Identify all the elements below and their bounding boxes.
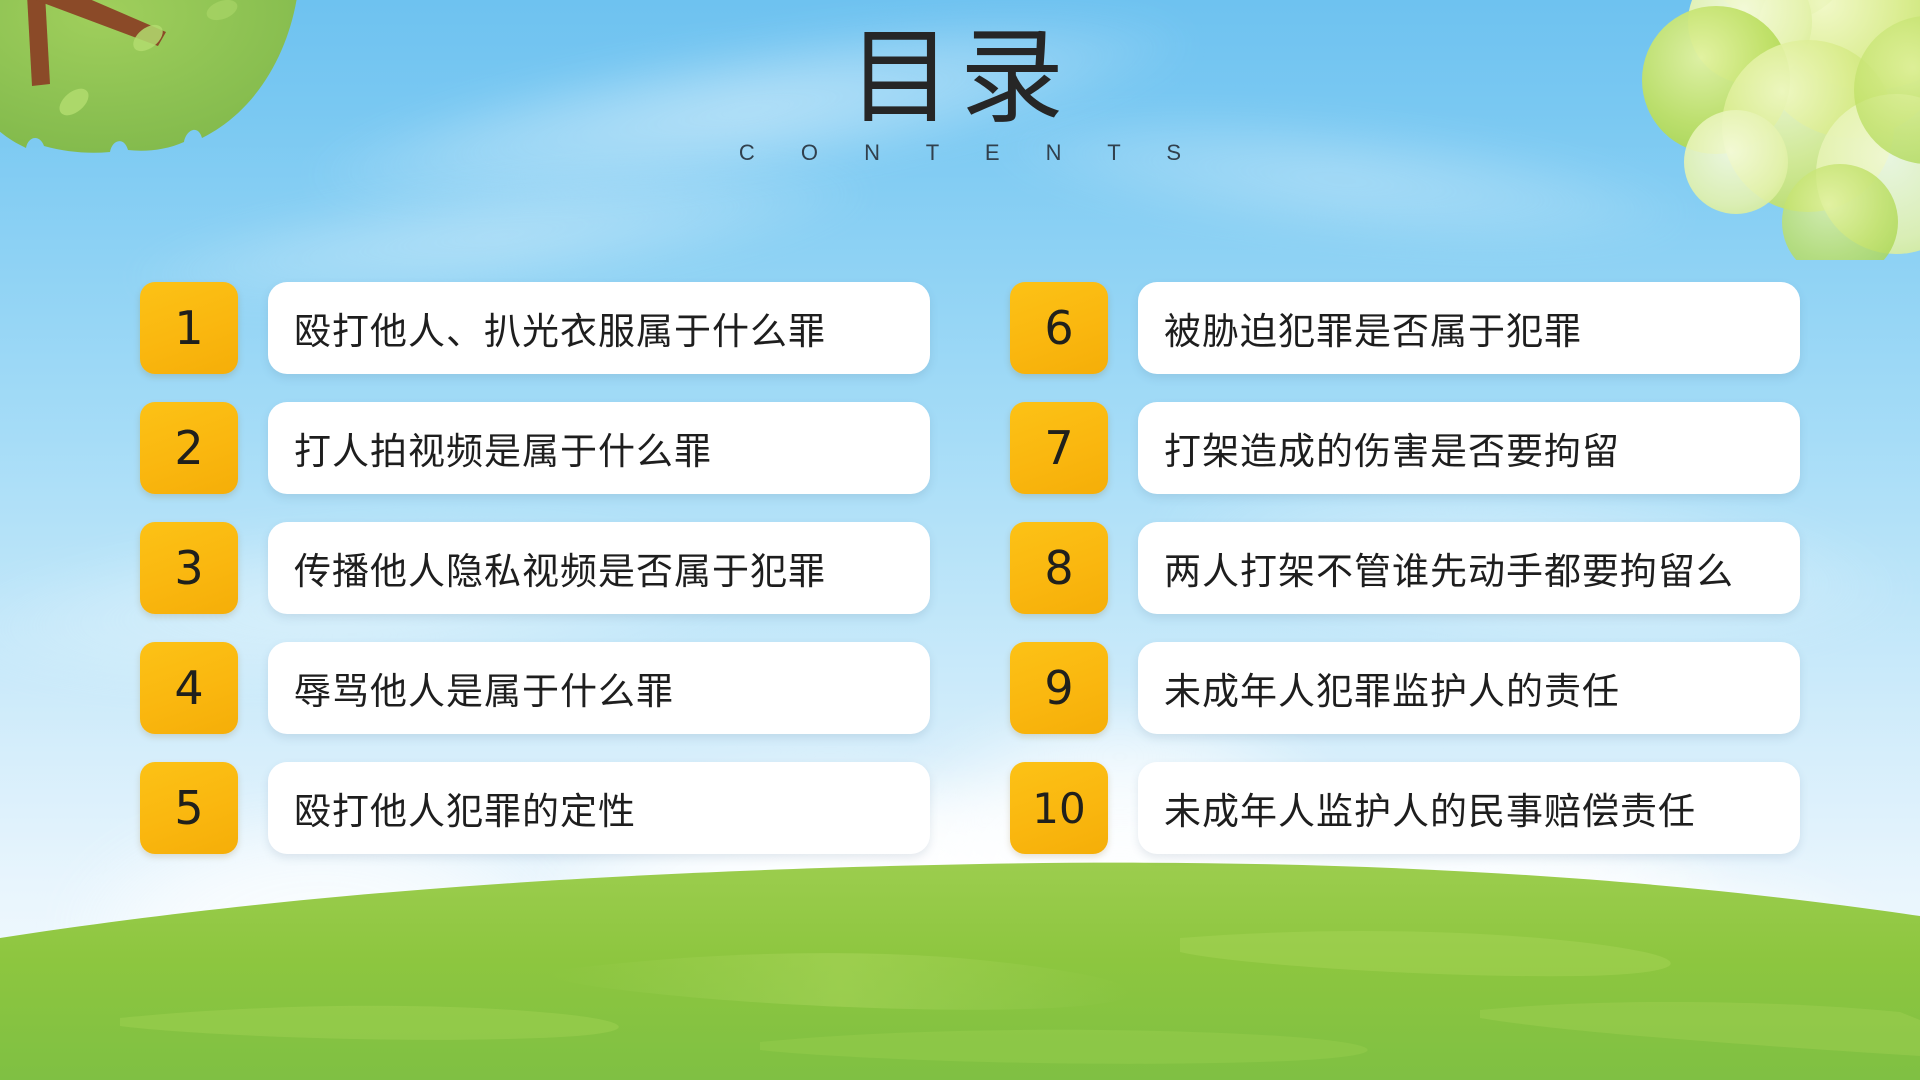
item-label: 未成年人犯罪监护人的责任	[1164, 661, 1620, 715]
item-number-badge: 3	[140, 522, 238, 614]
list-item[interactable]: 8 两人打架不管谁先动手都要拘留么	[1010, 522, 1800, 614]
item-number-badge: 6	[1010, 282, 1108, 374]
list-item[interactable]: 10 未成年人监护人的民事赔偿责任	[1010, 762, 1800, 854]
item-card[interactable]: 传播他人隐私视频是否属于犯罪	[268, 522, 930, 614]
item-label: 打人拍视频是属于什么罪	[294, 421, 712, 475]
item-number-badge: 7	[1010, 402, 1108, 494]
item-number-badge: 9	[1010, 642, 1108, 734]
item-card[interactable]: 未成年人监护人的民事赔偿责任	[1138, 762, 1800, 854]
item-card[interactable]: 打人拍视频是属于什么罪	[268, 402, 930, 494]
item-label: 殴打他人、扒光衣服属于什么罪	[294, 301, 826, 355]
item-label: 两人打架不管谁先动手都要拘留么	[1164, 541, 1734, 595]
contents-grid: 1 殴打他人、扒光衣服属于什么罪 6 被胁迫犯罪是否属于犯罪 2 打人拍视频是属…	[140, 282, 1800, 854]
list-item[interactable]: 4 辱骂他人是属于什么罪	[140, 642, 930, 734]
list-item[interactable]: 5 殴打他人犯罪的定性	[140, 762, 930, 854]
item-number-badge: 10	[1010, 762, 1108, 854]
item-card[interactable]: 被胁迫犯罪是否属于犯罪	[1138, 282, 1800, 374]
list-item[interactable]: 3 传播他人隐私视频是否属于犯罪	[140, 522, 930, 614]
item-card[interactable]: 辱骂他人是属于什么罪	[268, 642, 930, 734]
item-label: 打架造成的伤害是否要拘留	[1164, 421, 1620, 475]
page-title: 目录	[0, 22, 1920, 132]
page-subtitle: C O N T E N T S	[0, 140, 1920, 166]
item-label: 辱骂他人是属于什么罪	[294, 661, 674, 715]
list-item[interactable]: 6 被胁迫犯罪是否属于犯罪	[1010, 282, 1800, 374]
slide-header: 目录 C O N T E N T S	[0, 22, 1920, 166]
list-item[interactable]: 7 打架造成的伤害是否要拘留	[1010, 402, 1800, 494]
item-card[interactable]: 殴打他人、扒光衣服属于什么罪	[268, 282, 930, 374]
item-number-badge: 5	[140, 762, 238, 854]
item-card[interactable]: 殴打他人犯罪的定性	[268, 762, 930, 854]
item-card[interactable]: 未成年人犯罪监护人的责任	[1138, 642, 1800, 734]
item-number-badge: 4	[140, 642, 238, 734]
item-label: 被胁迫犯罪是否属于犯罪	[1164, 301, 1582, 355]
item-label: 传播他人隐私视频是否属于犯罪	[294, 541, 826, 595]
list-item[interactable]: 2 打人拍视频是属于什么罪	[140, 402, 930, 494]
item-label: 殴打他人犯罪的定性	[294, 781, 636, 835]
slide-canvas: 目录 C O N T E N T S 1 殴打他人、扒光衣服属于什么罪 6 被胁…	[0, 0, 1920, 1080]
item-card[interactable]: 两人打架不管谁先动手都要拘留么	[1138, 522, 1800, 614]
item-number-badge: 2	[140, 402, 238, 494]
item-card[interactable]: 打架造成的伤害是否要拘留	[1138, 402, 1800, 494]
item-number-badge: 8	[1010, 522, 1108, 614]
list-item[interactable]: 9 未成年人犯罪监护人的责任	[1010, 642, 1800, 734]
list-item[interactable]: 1 殴打他人、扒光衣服属于什么罪	[140, 282, 930, 374]
grass-hill-icon	[0, 820, 1920, 1080]
item-label: 未成年人监护人的民事赔偿责任	[1164, 781, 1696, 835]
item-number-badge: 1	[140, 282, 238, 374]
